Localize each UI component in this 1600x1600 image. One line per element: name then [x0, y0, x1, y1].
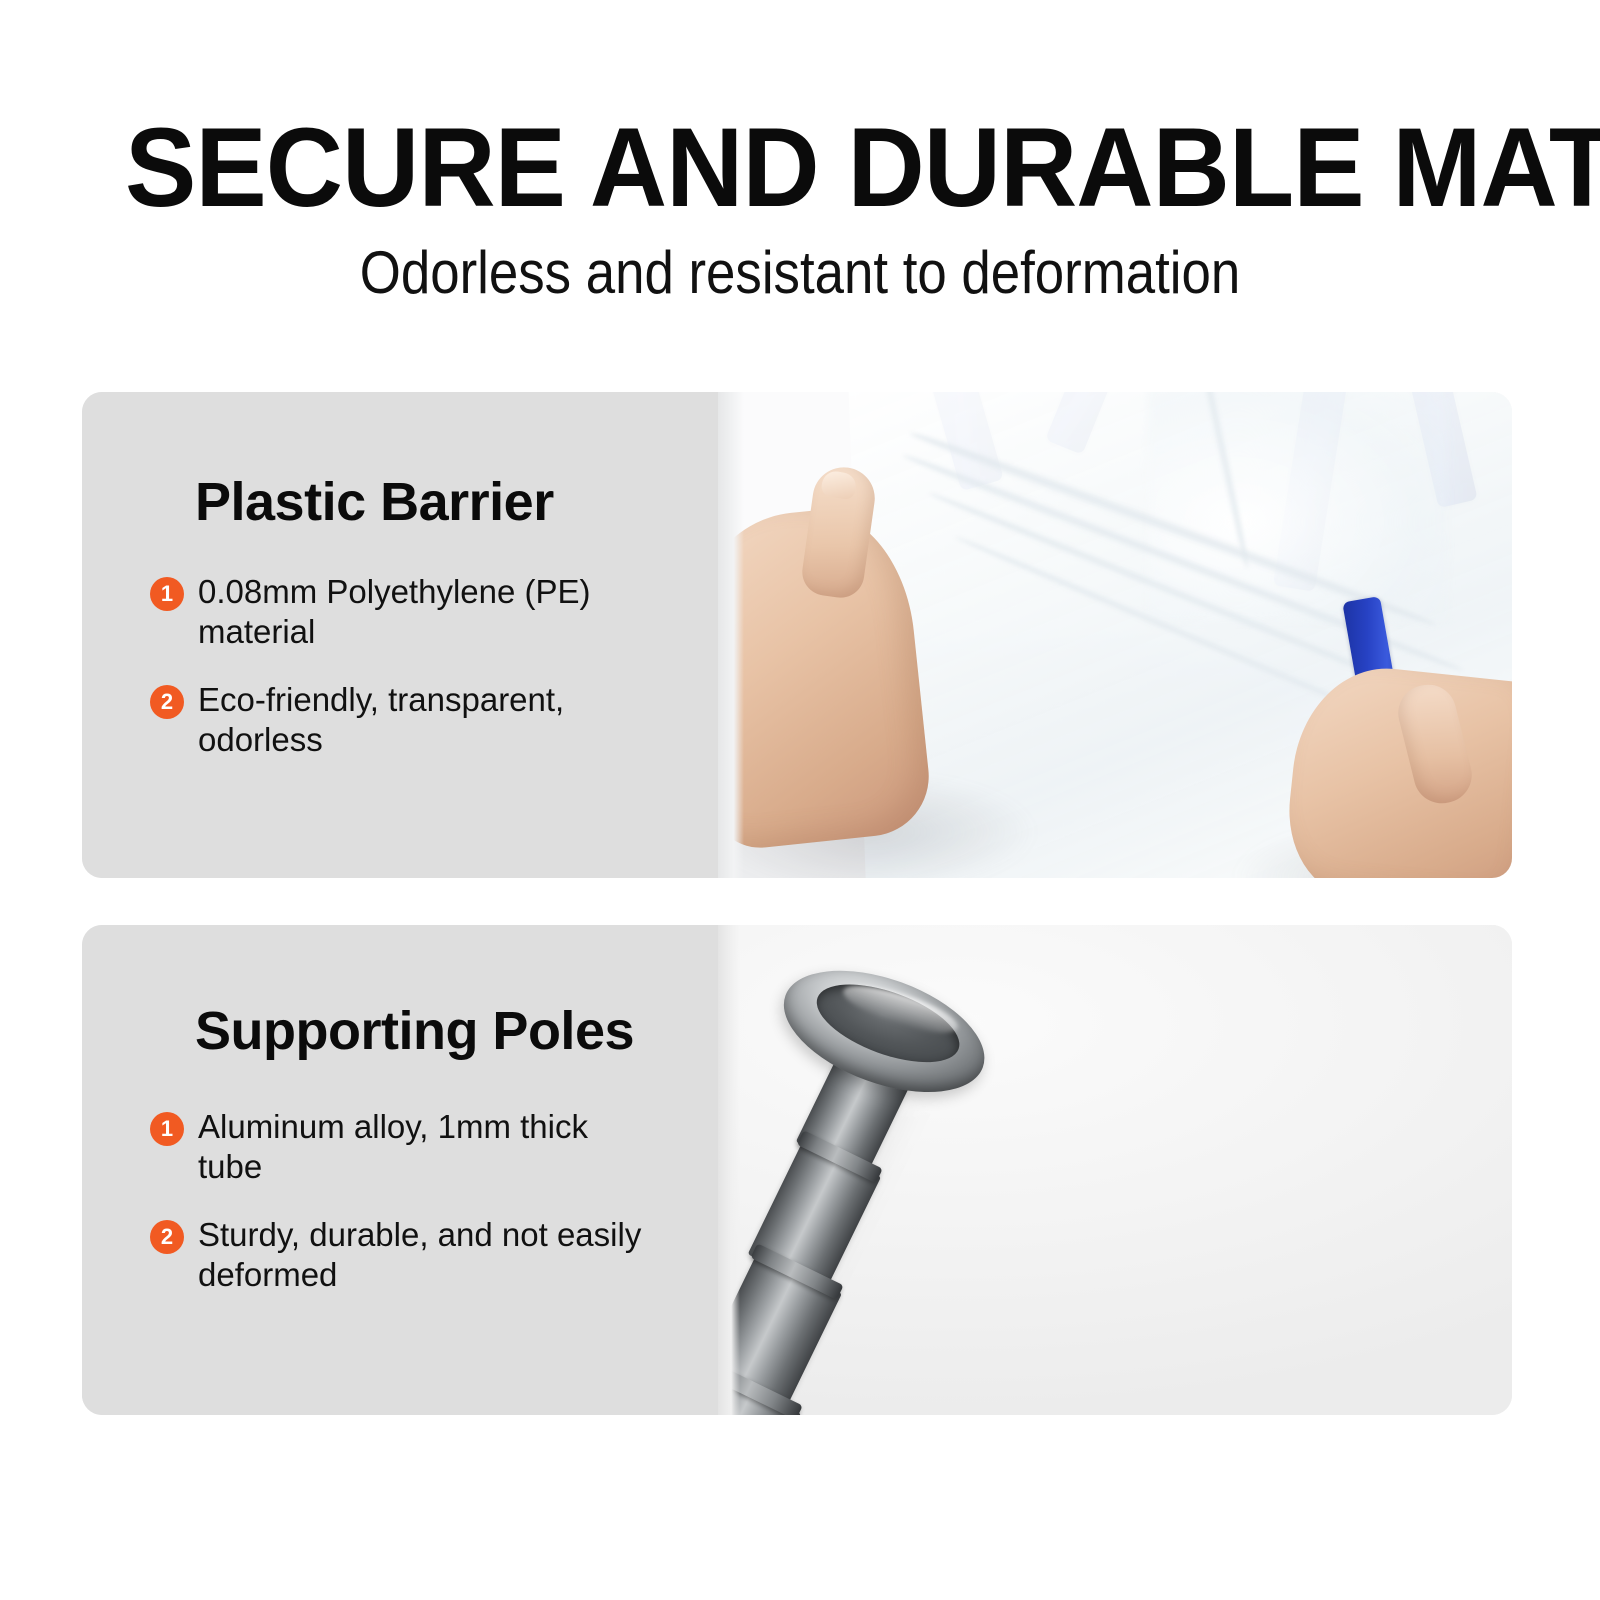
product-photo-plastic-barrier [718, 392, 1512, 878]
card-text-panel: Supporting Poles 1 Aluminum alloy, 1mm t… [82, 925, 718, 1415]
bullet-text: Aluminum alloy, 1mm thick tube [198, 1107, 648, 1187]
list-item: 1 Aluminum alloy, 1mm thick tube [82, 1107, 718, 1187]
page-title: SECURE AND DURABLE MATERIAL [125, 112, 1452, 224]
bullet-text: 0.08mm Polyethylene (PE) material [198, 572, 648, 652]
feature-card-supporting-poles: Supporting Poles 1 Aluminum alloy, 1mm t… [82, 925, 1512, 1415]
bullet-number-badge: 1 [150, 577, 184, 611]
page-subtitle: Odorless and resistant to deformation [96, 243, 1504, 303]
feature-card-plastic-barrier: Plastic Barrier 1 0.08mm Polyethylene (P… [82, 392, 1512, 878]
bullet-number-badge: 2 [150, 1220, 184, 1254]
bullet-number-badge: 1 [150, 1112, 184, 1146]
product-photo-supporting-pole [718, 925, 1512, 1415]
card-text-panel: Plastic Barrier 1 0.08mm Polyethylene (P… [82, 392, 718, 878]
bullet-text: Sturdy, durable, and not easily deformed [198, 1215, 648, 1295]
list-item: 2 Sturdy, durable, and not easily deform… [82, 1215, 718, 1295]
list-item: 2 Eco-friendly, transparent, odorless [82, 680, 718, 760]
photo-left-edge-shade [718, 925, 740, 1415]
pe-film-highlight [1148, 392, 1448, 622]
card-bullet-list: 1 0.08mm Polyethylene (PE) material 2 Ec… [82, 572, 718, 788]
photo-left-edge-shade [718, 392, 744, 878]
card-heading: Plastic Barrier [195, 474, 554, 530]
list-item: 1 0.08mm Polyethylene (PE) material [82, 572, 718, 652]
card-bullet-list: 1 Aluminum alloy, 1mm thick tube 2 Sturd… [82, 1107, 718, 1323]
bullet-text: Eco-friendly, transparent, odorless [198, 680, 648, 760]
bullet-number-badge: 2 [150, 685, 184, 719]
card-heading: Supporting Poles [195, 1003, 634, 1059]
